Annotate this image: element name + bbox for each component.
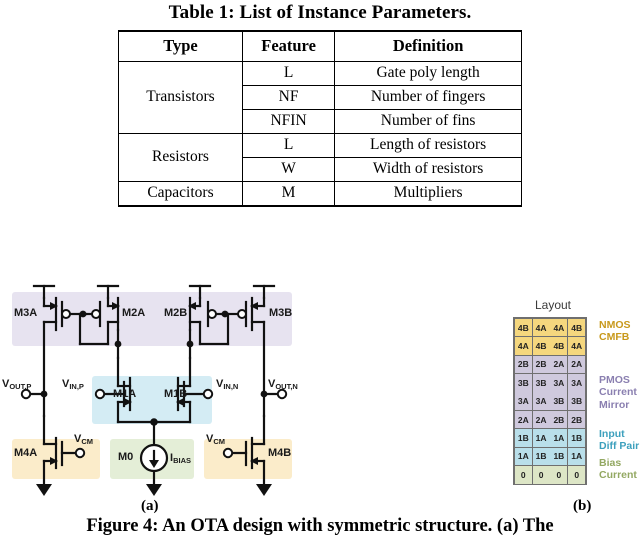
table-caption: Table 1: List of Instance Parameters.: [0, 2, 640, 24]
layout-panel: Layout 4B 4A 4A 4B 4A 4B 4B 4A 2B 2B 2A …: [500, 298, 594, 313]
port-vout-n: [278, 390, 286, 398]
cell-feature: M: [242, 182, 334, 207]
net-label-vcm-b: VCM: [206, 433, 225, 445]
column-header-feature: Feature: [242, 31, 334, 62]
column-header-type: Type: [119, 31, 243, 62]
device-label-m3b: M3B: [269, 307, 292, 319]
table-row: Transistors L Gate poly length: [119, 62, 522, 86]
legend-line: Diff Pair: [599, 440, 639, 452]
device-label-m2a: M2A: [122, 307, 145, 319]
cell-type-resistors: Resistors: [119, 134, 243, 182]
figure-page: Table 1: List of Instance Parameters. Ty…: [0, 0, 640, 538]
legend-entry-pmos-current-mirror: PMOS Current Mirror: [599, 374, 637, 411]
m3a-gate-bubble: [62, 310, 70, 318]
table-row: Resistors L Length of resistors: [119, 134, 522, 158]
layout-cell: 4B: [568, 319, 585, 337]
layout-cell: 3B: [533, 374, 550, 392]
ground-symbol-m0: [146, 484, 162, 496]
cell-feature: NF: [242, 86, 334, 110]
layout-cell: 1B: [515, 429, 532, 447]
layout-cell: 0: [568, 466, 585, 484]
port-vout-p: [22, 390, 30, 398]
cell-feature: L: [242, 62, 334, 86]
layout-cell: 3A: [568, 374, 585, 392]
cell-type-capacitors: Capacitors: [119, 182, 243, 207]
cell-definition: Width of resistors: [335, 158, 522, 182]
device-label-m4b: M4B: [268, 447, 291, 459]
layout-cell: 2A: [515, 411, 532, 429]
cell-feature: W: [242, 158, 334, 182]
layout-cell: 1A: [568, 448, 585, 466]
device-label-m1b: M1B: [164, 388, 187, 400]
net-label-vcm-a-sub: CM: [81, 437, 93, 446]
device-label-m3a: M3A: [14, 307, 37, 319]
layout-cell: 3A: [533, 392, 550, 410]
legend-line: Bias: [599, 457, 637, 469]
layout-cell: 2B: [515, 356, 532, 374]
net-label-ibias: IBIAS: [170, 452, 191, 464]
net-label-vout-p: VOUT,P: [2, 378, 31, 390]
legend-entry-input-diff-pair: Input Diff Pair: [599, 428, 639, 453]
device-label-m2b: M2B: [164, 307, 187, 319]
layout-cell: 1A: [533, 429, 550, 447]
layout-cell: 3A: [515, 392, 532, 410]
cell-definition: Gate poly length: [335, 62, 522, 86]
layout-cell: 0: [550, 466, 567, 484]
table-wrapper: Type Feature Definition Transistors L Ga…: [118, 30, 522, 207]
layout-cell: 2B: [568, 411, 585, 429]
layout-cell: 2A: [533, 411, 550, 429]
layout-cell: 2A: [568, 356, 585, 374]
subcaption-b: (b): [573, 498, 591, 515]
layout-cell: 1A: [550, 429, 567, 447]
m3b-gate-bubble: [238, 310, 246, 318]
layout-cell: 3B: [550, 392, 567, 410]
legend-line: NMOS: [599, 319, 631, 331]
net-label-vcm-b-sub: CM: [213, 437, 225, 446]
legend-line: PMOS: [599, 374, 637, 386]
device-label-m4a: M4A: [14, 447, 37, 459]
legend-line: Current: [599, 386, 637, 398]
net-label-vin-n: VIN,N: [216, 378, 238, 390]
net-label-vcm-a: VCM: [74, 433, 93, 445]
cell-definition: Length of resistors: [335, 134, 522, 158]
node-dot-vout-n: [261, 391, 268, 398]
layout-cell: 2B: [550, 411, 567, 429]
layout-cell: 3B: [515, 374, 532, 392]
legend-line: Current: [599, 469, 637, 481]
layout-cell: 3B: [568, 392, 585, 410]
layout-cell: 1B: [550, 448, 567, 466]
layout-cell: 4A: [568, 337, 585, 355]
ground-symbol-m4a: [36, 484, 52, 496]
node-dot-m2b-drain: [187, 341, 194, 348]
layout-cell: 2B: [533, 356, 550, 374]
figure-caption: Figure 4: An OTA design with symmetric s…: [0, 516, 640, 537]
table-head: Type Feature Definition: [119, 31, 522, 62]
legend-line: Input: [599, 428, 639, 440]
net-label-vout-n: VOUT,N: [268, 378, 298, 390]
net-label-vout-p-sub: OUT,P: [9, 382, 31, 391]
cell-type-transistors: Transistors: [119, 62, 243, 134]
legend-entry-bias-current: Bias Current: [599, 457, 637, 482]
layout-grid: 4B 4A 4A 4B 4A 4B 4B 4A 2B 2B 2A 2A 3B 3…: [513, 317, 587, 485]
layout-cell: 4A: [550, 319, 567, 337]
layout-title: Layout: [512, 298, 594, 313]
legend-entry-nmos-cmfb: NMOS CMFB: [599, 319, 631, 344]
layout-cell: 0: [533, 466, 550, 484]
net-label-vout-n-sub: OUT,N: [275, 382, 298, 391]
node-dot-vout-p: [41, 391, 48, 398]
m2b-gate-bubble: [208, 310, 216, 318]
net-label-vin-p-sub: IN,P: [69, 382, 84, 391]
node-dot-mirror-gate-right: [222, 311, 229, 318]
device-label-m1a: M1A: [113, 388, 136, 400]
layout-cell: 1A: [515, 448, 532, 466]
subcaption-a: (a): [141, 498, 159, 515]
m2a-gate-bubble: [92, 310, 100, 318]
legend-line: Mirror: [599, 399, 637, 411]
port-vcm-a: [76, 449, 84, 457]
port-vin-n: [204, 390, 212, 398]
layout-cell: 1B: [533, 448, 550, 466]
layout-cell: 4B: [533, 337, 550, 355]
cell-definition: Number of fins: [335, 110, 522, 134]
device-label-m0: M0: [118, 451, 133, 463]
layout-cell: 2A: [550, 356, 567, 374]
layout-cell: 4A: [533, 319, 550, 337]
table-body: Transistors L Gate poly length NF Number…: [119, 62, 522, 207]
layout-cell: 3A: [550, 374, 567, 392]
ground-symbol-m4b: [256, 484, 272, 496]
layout-cell: 1B: [568, 429, 585, 447]
net-label-vin-p: VIN,P: [62, 378, 84, 390]
layout-cell: 4B: [515, 319, 532, 337]
node-dot-m2a-drain: [115, 341, 122, 348]
table-row: Capacitors M Multipliers: [119, 182, 522, 207]
node-dot-tail: [150, 418, 158, 426]
layout-cell: 0: [515, 466, 532, 484]
cell-feature: NFIN: [242, 110, 334, 134]
layout-cell: 4A: [515, 337, 532, 355]
port-vin-p: [96, 390, 104, 398]
cell-feature: L: [242, 134, 334, 158]
figure-area: M3A M2A M2B M3B M1A M1B M4A M4B M0 VOUT,…: [0, 276, 640, 538]
cell-definition: Multipliers: [335, 182, 522, 207]
instance-parameters-table: Type Feature Definition Transistors L Ga…: [118, 30, 522, 207]
column-header-definition: Definition: [335, 31, 522, 62]
net-label-vin-n-sub: IN,N: [223, 382, 238, 391]
port-vcm-b: [224, 449, 232, 457]
cell-definition: Number of fingers: [335, 86, 522, 110]
legend-line: CMFB: [599, 331, 631, 343]
net-label-ibias-sub: BIAS: [173, 456, 191, 465]
table-header-row: Type Feature Definition: [119, 31, 522, 62]
layout-cell: 4B: [550, 337, 567, 355]
node-dot-mirror-gate-left: [80, 311, 87, 318]
